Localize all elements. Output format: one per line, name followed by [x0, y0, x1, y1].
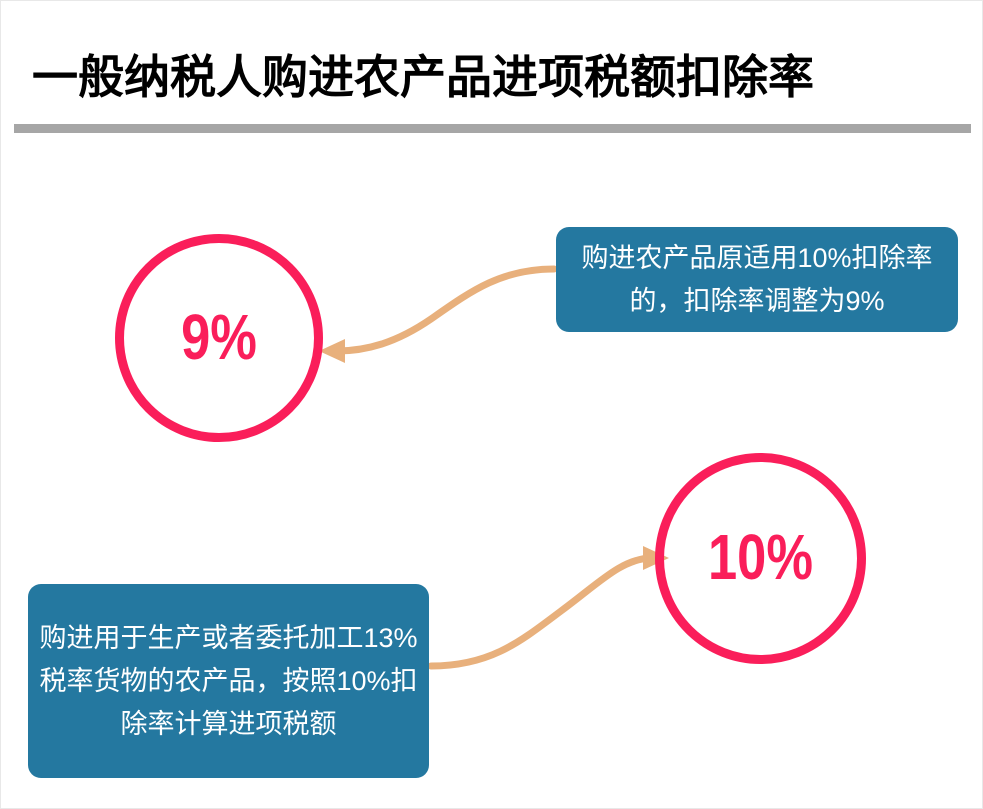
rate-circle-9: 9% — [115, 234, 323, 442]
slide-canvas: 一般纳税人购进农产品进项税额扣除率 9% 10% 购进农产品原适用10%扣除率的… — [0, 0, 983, 809]
rate-circle-10-label: 10% — [681, 525, 839, 589]
callout-box-10-percent-text: 购进用于生产或者委托加工13%税率货物的农产品，按照10%扣除率计算进项税额 — [38, 617, 419, 746]
page-title: 一般纳税人购进农产品进项税额扣除率 — [32, 47, 952, 107]
title-divider — [14, 124, 971, 133]
callout-box-9-percent-text: 购进农产品原适用10%扣除率的，扣除率调整为9% — [568, 237, 946, 323]
rate-circle-9-label: 9% — [141, 305, 297, 369]
rate-circle-10: 10% — [655, 453, 866, 664]
arrow-to-nine-icon — [319, 269, 554, 363]
arrow-to-ten-icon — [431, 546, 669, 666]
callout-box-10-percent: 购进用于生产或者委托加工13%税率货物的农产品，按照10%扣除率计算进项税额 — [28, 584, 429, 778]
callout-box-9-percent: 购进农产品原适用10%扣除率的，扣除率调整为9% — [556, 227, 958, 332]
